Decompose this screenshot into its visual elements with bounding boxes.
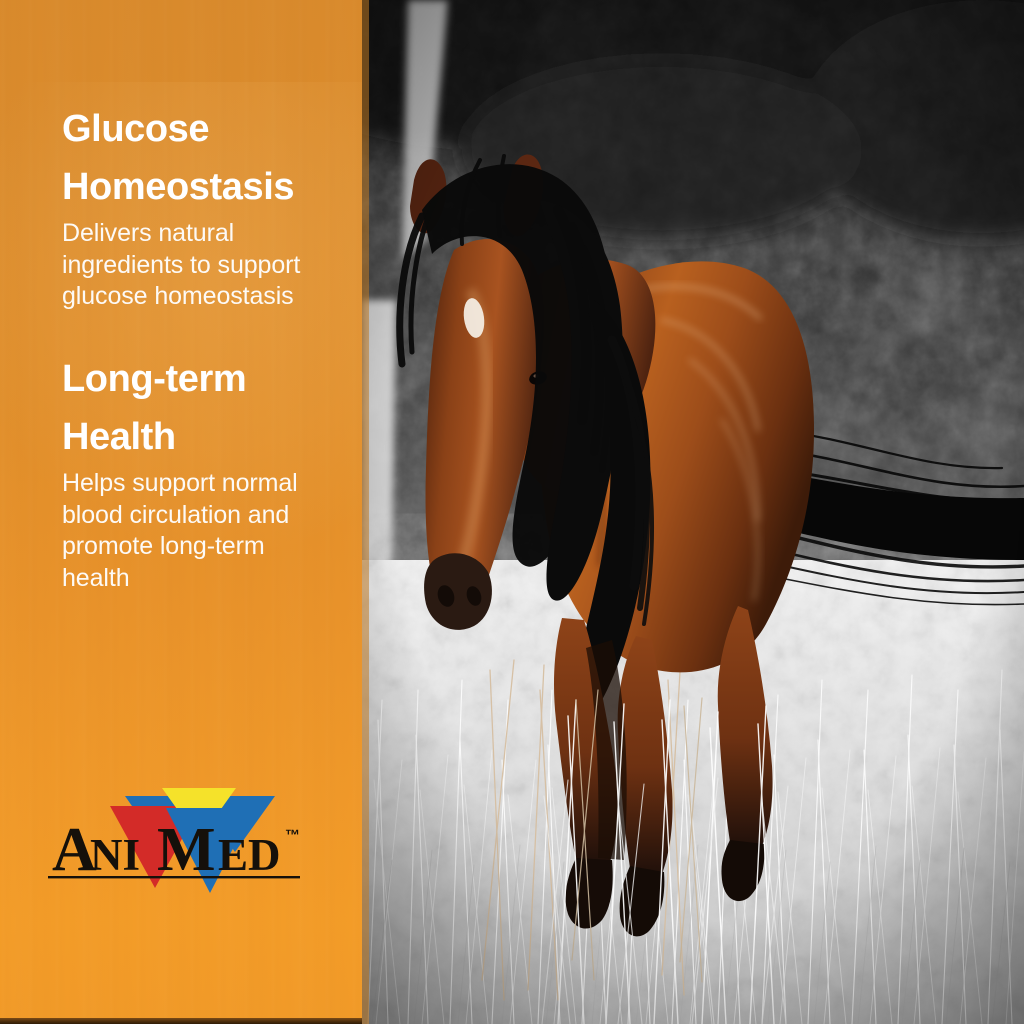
feature-block-long-term-health: Long-term Health Helps support normal bl…	[62, 350, 324, 594]
feature-block-glucose-homeostasis: Glucose Homeostasis Delivers natural ing…	[62, 100, 324, 313]
promo-graphic: Glucose Homeostasis Delivers natural ing…	[0, 0, 1024, 1024]
photo-vignette	[362, 0, 1024, 1024]
animed-logo: A NI M ED ™	[40, 778, 350, 898]
horse-photograph	[362, 0, 1024, 1024]
photo-left-warm-edge	[362, 0, 369, 1024]
logo-letters-ed: ED	[218, 830, 281, 880]
feature-heading-line2: Health	[62, 408, 324, 466]
logo-letters-ni: NI	[90, 830, 140, 880]
left-orange-panel: Glucose Homeostasis Delivers natural ing…	[0, 0, 362, 1024]
feature-body-text: Delivers natural ingredients to support …	[62, 216, 324, 313]
feature-heading-line2: Homeostasis	[62, 158, 324, 216]
logo-letter-m: M	[157, 816, 216, 884]
panel-bottom-strip	[0, 1018, 362, 1024]
logo-wordmark: A NI M ED ™	[52, 816, 300, 884]
logo-underline	[48, 876, 300, 878]
feature-heading-line1: Glucose	[62, 100, 324, 158]
feature-heading-line1: Long-term	[62, 350, 324, 408]
feature-body-text: Helps support normal blood circulation a…	[62, 466, 324, 594]
logo-trademark-symbol: ™	[285, 827, 300, 844]
